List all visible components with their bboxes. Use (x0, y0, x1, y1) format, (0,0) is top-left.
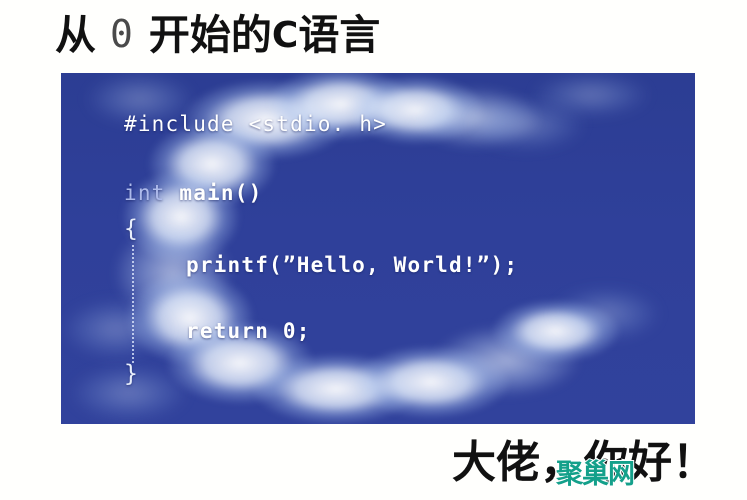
title-c-letter: C (272, 18, 298, 54)
code-line-printf: printf(”Hello, World!”); (186, 255, 518, 276)
indent-guide-line (132, 245, 134, 363)
slide-canvas: 从 0 开始的 C 语言 #include <stdio. h> int mai… (0, 0, 747, 500)
code-line-main: int main() (124, 183, 262, 204)
title-suffix: 语言 (298, 15, 380, 56)
code-brace-close: } (124, 363, 139, 386)
title-zero-digit: 0 (96, 15, 149, 53)
site-watermark: 聚巢网 (556, 461, 634, 488)
title-prefix: 从 (55, 15, 96, 56)
code-brace-open: { (124, 218, 139, 241)
code-line-include: #include <stdio. h> (124, 114, 387, 135)
code-main-signature: main() (166, 181, 263, 205)
code-keyword-int: int (124, 181, 166, 205)
code-overlay: #include <stdio. h> int main() { printf(… (61, 73, 695, 424)
title-middle: 开始的 (149, 15, 272, 56)
code-line-return: return 0; (186, 321, 311, 342)
page-title: 从 0 开始的 C 语言 (55, 6, 380, 64)
sky-code-image: #include <stdio. h> int main() { printf(… (61, 73, 695, 424)
